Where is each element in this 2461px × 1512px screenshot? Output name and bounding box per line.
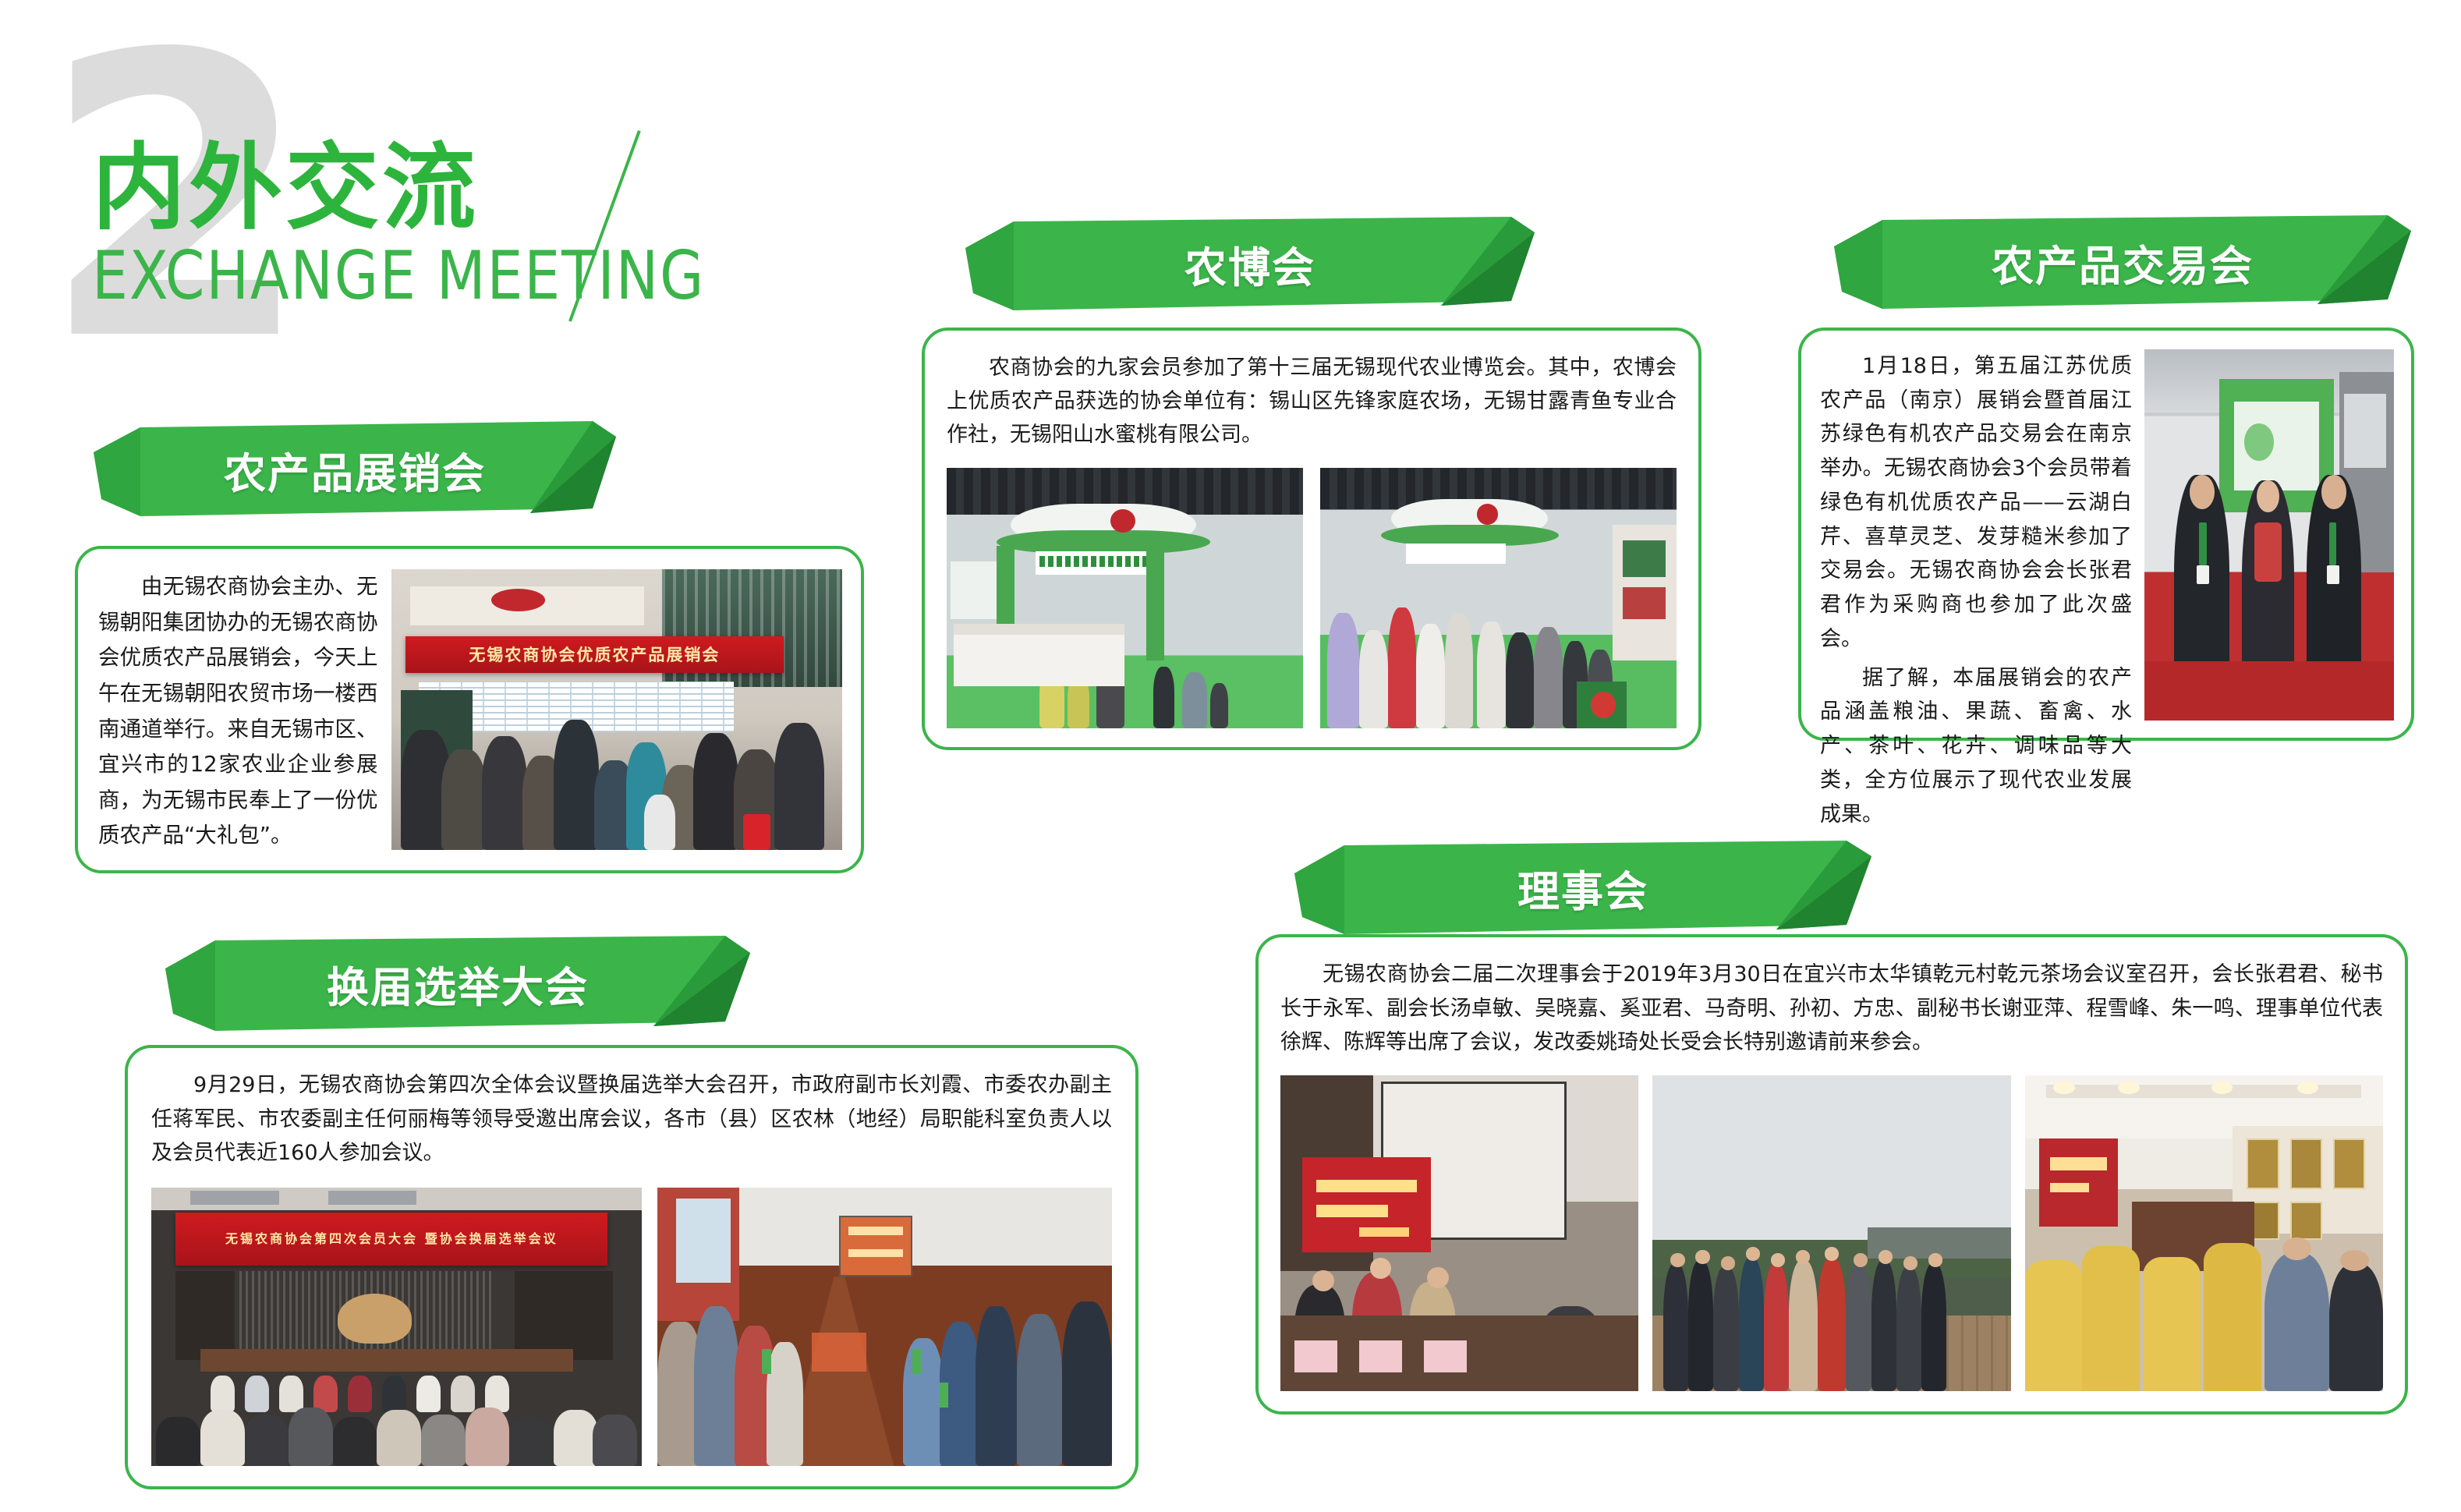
photo-agri-expo-visitors: [1320, 468, 1677, 728]
card-agri-expo: 农商协会的九家会员参加了第十三届无锡现代农业博览会。其中，农博会上优质农产品获选…: [922, 328, 1701, 750]
photo-election-long-table-meeting: [657, 1188, 1112, 1466]
ribbon-council-meeting: 理事会: [1294, 841, 1871, 939]
photo-banner-text: 无锡农商协会第四次会员大会 暨协会换届选举会议: [175, 1213, 607, 1266]
card-election-assembly: 9月29日，无锡农商协会第四次全体会议暨换届选举大会召开，市政府副市长刘霞、市委…: [125, 1045, 1138, 1489]
ribbon-agri-product-expo-sale: 农产品展销会: [94, 421, 616, 522]
photo-agri-expo-booth: [947, 468, 1303, 728]
photo-council-round-table: [2025, 1075, 2383, 1391]
card-council-meeting: 无锡农商协会二届二次理事会于2019年3月30日在宜兴市太华镇乾元村乾元茶场会议…: [1255, 934, 2408, 1415]
page-title-en: EXCHANGE MEETING: [92, 243, 705, 310]
photo-council-group-photo-outdoor: [1652, 1075, 2010, 1391]
ribbon-election-assembly: 换届选举大会: [165, 936, 750, 1036]
photo-agri-expo-sale-market: 无锡农商协会优质农产品展销会: [391, 569, 842, 850]
card-body-text: 无锡农商协会二届二次理事会于2019年3月30日在宜兴市太华镇乾元村乾元茶场会议…: [1280, 958, 2383, 1060]
card-agri-product-trade-fair: 1月18日，第五届江苏优质农产品（南京）展销会暨首届江苏绿色有机农产品交易会在南…: [1798, 328, 2414, 741]
ribbon-agri-expo: 农博会: [965, 217, 1535, 315]
photo-trade-fair-attendees: [2144, 349, 2394, 721]
card-body-text: 9月29日，无锡农商协会第四次全体会议暨换届选举大会召开，市政府副市长刘霞、市委…: [151, 1068, 1112, 1170]
photo-council-room-screen: [1280, 1075, 1638, 1391]
photo-banner-text: 无锡农商协会优质农产品展销会: [405, 636, 784, 673]
page-title: 内外交流 EXCHANGE MEETING: [92, 136, 744, 310]
photo-election-assembly-hall: 无锡农商协会第四次会员大会 暨协会换届选举会议: [151, 1188, 642, 1466]
card-body-text: 1月18日，第五届江苏优质农产品（南京）展销会暨首届江苏绿色有机农产品交易会在南…: [1820, 349, 2132, 721]
page-title-cn: 内外交流: [92, 136, 744, 241]
card-body-text: 由无锡农商协会主办、无锡朝阳集团协办的无锡农商协会优质农产品展销会，今天上午在无…: [98, 569, 377, 850]
card-agri-product-expo-sale: 由无锡农商协会主办、无锡朝阳集团协办的无锡农商协会优质农产品展销会，今天上午在无…: [75, 546, 864, 873]
ribbon-agri-product-trade-fair: 农产品交易会: [1834, 215, 2411, 313]
card-body-text: 农商协会的九家会员参加了第十三届无锡现代农业博览会。其中，农博会上优质农产品获选…: [947, 351, 1677, 452]
